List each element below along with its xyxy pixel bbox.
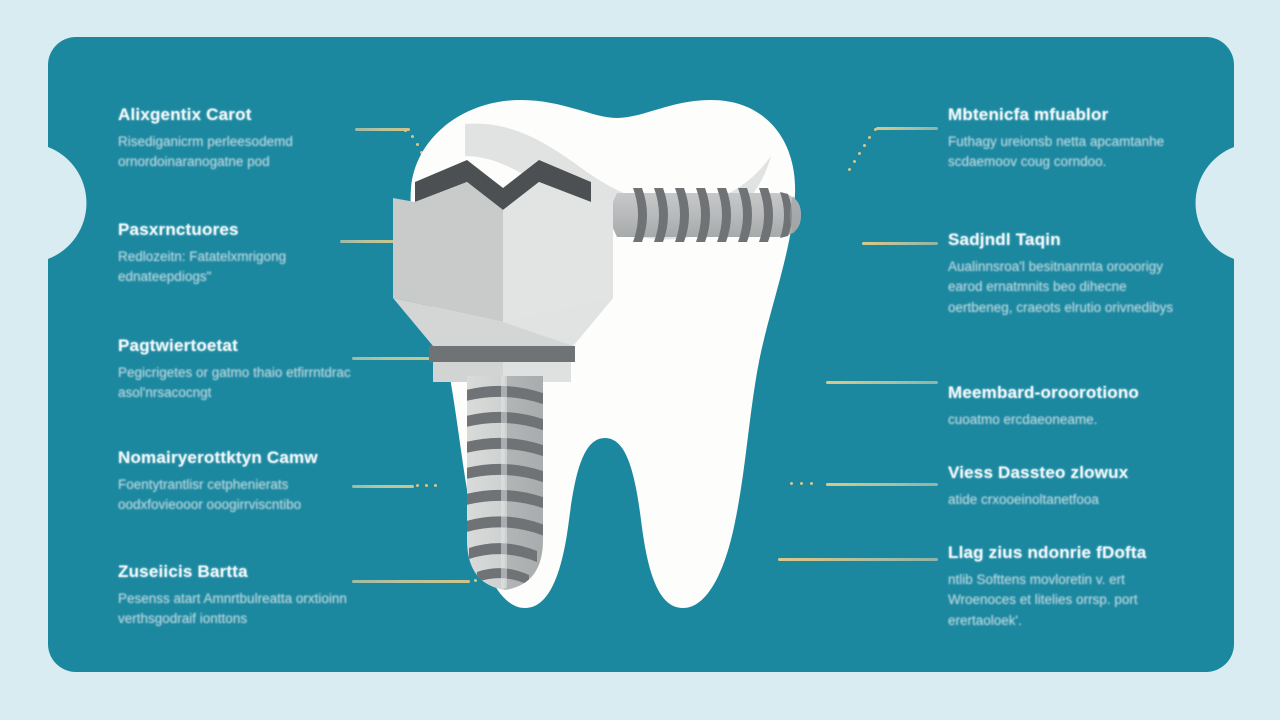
callout-right-3-title: Meembard-oroorotiono [948,383,1188,403]
connector-right-3 [826,381,938,384]
callout-left-1-title: Alixgentix Carot [118,105,358,125]
callout-right-4-body: atide crxooeinoltanetfooa [948,490,1188,511]
callout-left-2-title: Pasxrnctuores [118,220,358,240]
callout-right-5-body: ntlib Softtens movloretin v. ert Wroenoc… [948,570,1188,632]
callout-right-1-body: Futhagy ureionsb netta apcamtanhe scdaem… [948,132,1188,173]
vertical-implant-screw [459,376,551,590]
callout-right-5[interactable]: Llag zius ndonrie fDofta ntlib Softtens … [948,543,1188,631]
callout-right-5-title: Llag zius ndonrie fDofta [948,543,1188,563]
callout-left-2-body: Redlozeitn: Fatatelxmrigong ednateepdiog… [118,247,358,288]
callout-right-3-body: cuoatmo ercdaeoneame. [948,410,1188,431]
callout-left-3[interactable]: Pagtwiertoetat Pegicrigetes or gatmo tha… [118,336,358,404]
callout-left-5-title: Zuseiicis Bartta [118,562,358,582]
callout-left-5[interactable]: Zuseiicis Bartta Pesenss atart Amnrtbulr… [118,562,358,630]
callout-left-4[interactable]: Nomairyerottktyn Camw Foentytrantlisr ce… [118,448,368,516]
callout-right-4[interactable]: Viess Dassteo zlowux atide crxooeinoltan… [948,463,1188,510]
infographic-canvas: Alixgentix Carot Risediganicrm perleesod… [0,0,1280,720]
connector-right-2 [862,242,938,245]
callout-right-2-title: Sadjndl Taqin [948,230,1188,250]
callout-right-3[interactable]: Meembard-oroorotiono cuoatmo ercdaeoneam… [948,383,1188,430]
callout-right-1-title: Mbtenicfa mfuablor [948,105,1188,125]
callout-right-2-body: Aualinnsroa'l besitnanrnta orooorigy ear… [948,257,1188,319]
callout-left-4-title: Nomairyerottktyn Camw [118,448,368,468]
callout-right-1[interactable]: Mbtenicfa mfuablor Futhagy ureionsb nett… [948,105,1188,173]
callout-left-3-body: Pegicrigetes or gatmo thaio etfirrntdrac… [118,363,358,404]
callout-right-4-title: Viess Dassteo zlowux [948,463,1188,483]
callout-right-2[interactable]: Sadjndl Taqin Aualinnsroa'l besitnanrnta… [948,230,1188,318]
connector-right-4 [826,483,938,486]
dental-implant-illustration [355,60,835,680]
connector-right-1 [876,127,938,130]
horizontal-implant-screw [607,188,801,242]
callout-left-3-title: Pagtwiertoetat [118,336,358,356]
callout-left-1[interactable]: Alixgentix Carot Risediganicrm perleesod… [118,105,358,173]
callout-left-5-body: Pesenss atart Amnrtbulreatta orxtioinn v… [118,589,358,630]
callout-left-4-body: Foentytrantlisr cetphenierats oodxfovieo… [118,475,368,516]
callout-left-2[interactable]: Pasxrnctuores Redlozeitn: Fatatelxmrigon… [118,220,358,288]
callout-left-1-body: Risediganicrm perleesodemd ornordoinaran… [118,132,358,173]
